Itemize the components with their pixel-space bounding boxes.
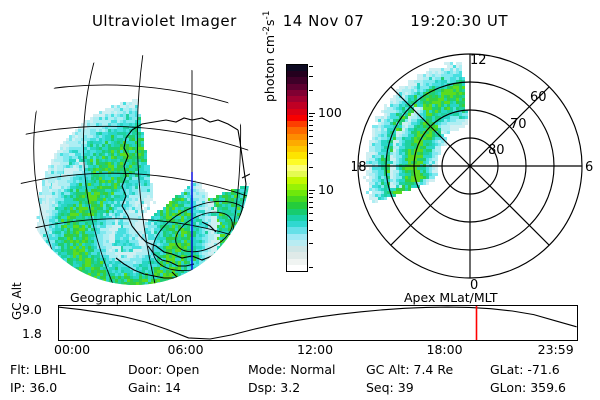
instrument-title: Ultraviolet Imager	[92, 12, 237, 30]
status-field-value: 39	[398, 380, 414, 395]
strip-ytick-high: 9.0	[22, 304, 42, 317]
strip-xtick-label: 18:00	[427, 342, 463, 357]
header-bar: Ultraviolet Imager 14 Nov 07 19:20:30 UT	[0, 8, 600, 34]
colorbar-minor-tick	[309, 136, 313, 137]
status-field: Mode: Normal	[248, 362, 335, 377]
status-field-label: GLon:	[490, 380, 530, 395]
colorbar-major-tick	[309, 113, 315, 114]
geographic-globe-panel[interactable]	[6, 46, 264, 288]
colorbar-minor-tick	[309, 167, 313, 168]
colorbar-minor-tick	[309, 116, 313, 117]
status-row-1: Flt: LBHLDoor: OpenMode: NormalGC Alt: 7…	[0, 362, 600, 379]
status-field: IP: 36.0	[10, 380, 57, 395]
status-row-2: IP: 36.0Gain: 14Dsp: 3.2Seq: 39GLon: 359…	[0, 380, 600, 397]
colorbar-minor-tick	[309, 213, 313, 214]
colorbar-minor-tick	[309, 243, 313, 244]
status-field-label: Dsp:	[248, 380, 280, 395]
colorbar-minor-tick	[309, 267, 313, 268]
colorbar-minor-tick	[309, 220, 313, 221]
polar-plot-image: 12 6 0 18 60 70 80	[352, 44, 596, 290]
mlat-ring-label-60: 60	[530, 90, 547, 105]
polar-grid	[358, 54, 582, 278]
mlt-label-0: 0	[470, 278, 478, 290]
status-field-label: GLat:	[490, 362, 527, 377]
mlt-label-12: 12	[470, 53, 487, 68]
status-field: GLat: -71.6	[490, 362, 560, 377]
strip-xtick-label: 23:59	[538, 342, 574, 357]
status-footer: Flt: LBHLDoor: OpenMode: NormalGC Alt: 7…	[0, 362, 600, 400]
colorbar-swatch	[287, 265, 307, 271]
right-panel-caption: Apex MLat/MLT	[404, 290, 498, 305]
colorbar-minor-tick	[309, 120, 313, 121]
mlt-label-18: 18	[352, 160, 367, 175]
status-field-label: Gain:	[128, 380, 165, 395]
colorbar-minor-tick	[309, 197, 313, 198]
colorbar-major-tick	[309, 190, 315, 191]
colorbar-minor-tick	[309, 66, 313, 67]
colorbar-minor-tick	[309, 230, 313, 231]
colorbar-minor-tick	[309, 125, 313, 126]
status-field: Gain: 14	[128, 380, 181, 395]
colorbar-minor-tick	[309, 202, 313, 203]
status-field-label: IP:	[10, 380, 29, 395]
status-field-label: Door:	[128, 362, 166, 377]
left-panel-caption: Geographic Lat/Lon	[70, 290, 192, 305]
status-field-value: Open	[166, 362, 199, 377]
status-field-label: GC Alt:	[366, 362, 414, 377]
status-field-value: 14	[165, 380, 181, 395]
colorbar-gradient	[286, 64, 308, 272]
status-field-label: Flt:	[10, 362, 34, 377]
colorbar-minor-tick	[309, 90, 313, 91]
status-field-value: LBHL	[34, 362, 66, 377]
apex-polar-panel[interactable]: 12 6 0 18 60 70 80	[352, 44, 596, 290]
mlat-ring-label-80: 80	[488, 143, 505, 158]
status-field: Flt: LBHL	[10, 362, 66, 377]
strip-plot-box	[58, 305, 578, 341]
colorbar-minor-tick	[309, 130, 313, 131]
colorbar-minor-tick	[309, 76, 313, 77]
status-field-value: Normal	[290, 362, 335, 377]
status-field-value: 3.2	[280, 380, 300, 395]
colorbar-axis-label: photon cm-2s-1	[262, 0, 277, 102]
observation-date: 14 Nov 07	[283, 12, 365, 30]
colorbar-minor-tick	[309, 207, 313, 208]
status-field-value: -71.6	[527, 362, 559, 377]
colorbar-panel: photon cm-2s-1 10010	[266, 56, 352, 288]
strip-xtick-label: 06:00	[168, 342, 204, 357]
altitude-curve	[59, 306, 577, 340]
aurora-overlay-globe	[34, 99, 264, 288]
status-field: GC Alt: 7.4 Re	[366, 362, 453, 377]
status-field-value: 7.4 Re	[414, 362, 454, 377]
mlat-ring-label-70: 70	[510, 117, 527, 132]
status-field-label: Mode:	[248, 362, 290, 377]
strip-xtick-label: 00:00	[54, 342, 90, 357]
orbit-altitude-strip[interactable]: GC Alt 9.0 1.8 Geographic Lat/Lon Apex M…	[0, 296, 600, 356]
colorbar-minor-tick	[309, 153, 313, 154]
strip-ytick-low: 1.8	[22, 328, 42, 341]
status-field: Seq: 39	[366, 380, 414, 395]
colorbar-tick-label: 100	[318, 107, 342, 120]
colorbar-tick-label: 10	[318, 184, 334, 197]
globe-image	[6, 46, 264, 288]
aurora-overlay-polar	[363, 62, 468, 203]
colorbar-minor-tick	[309, 143, 313, 144]
status-field-label: Seq:	[366, 380, 398, 395]
status-field: Dsp: 3.2	[248, 380, 300, 395]
status-field: GLon: 359.6	[490, 380, 566, 395]
status-field: Door: Open	[128, 362, 199, 377]
colorbar-minor-tick	[309, 193, 313, 194]
mlt-label-6: 6	[585, 160, 593, 175]
status-field-value: 359.6	[530, 380, 566, 395]
uvi-display: Ultraviolet Imager 14 Nov 07 19:20:30 UT	[0, 0, 600, 400]
observation-time: 19:20:30 UT	[410, 12, 508, 30]
strip-xtick-label: 12:00	[297, 342, 333, 357]
status-field-value: 36.0	[29, 380, 57, 395]
